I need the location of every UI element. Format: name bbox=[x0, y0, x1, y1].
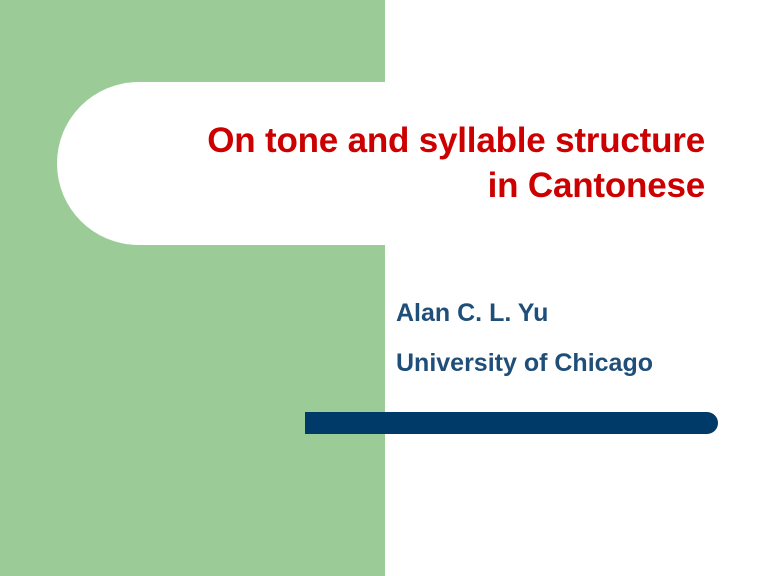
navy-accent-bar bbox=[305, 412, 718, 434]
author-affiliation: University of Chicago bbox=[396, 338, 726, 388]
title-slide: On tone and syllable structure in Canton… bbox=[0, 0, 768, 576]
slide-title-line-2: in Cantonese bbox=[100, 163, 705, 208]
author-name: Alan C. L. Yu bbox=[396, 288, 726, 338]
slide-title-line-1: On tone and syllable structure bbox=[100, 118, 705, 163]
slide-subtitle: Alan C. L. Yu University of Chicago bbox=[396, 288, 726, 388]
slide-title: On tone and syllable structure in Canton… bbox=[100, 118, 705, 208]
